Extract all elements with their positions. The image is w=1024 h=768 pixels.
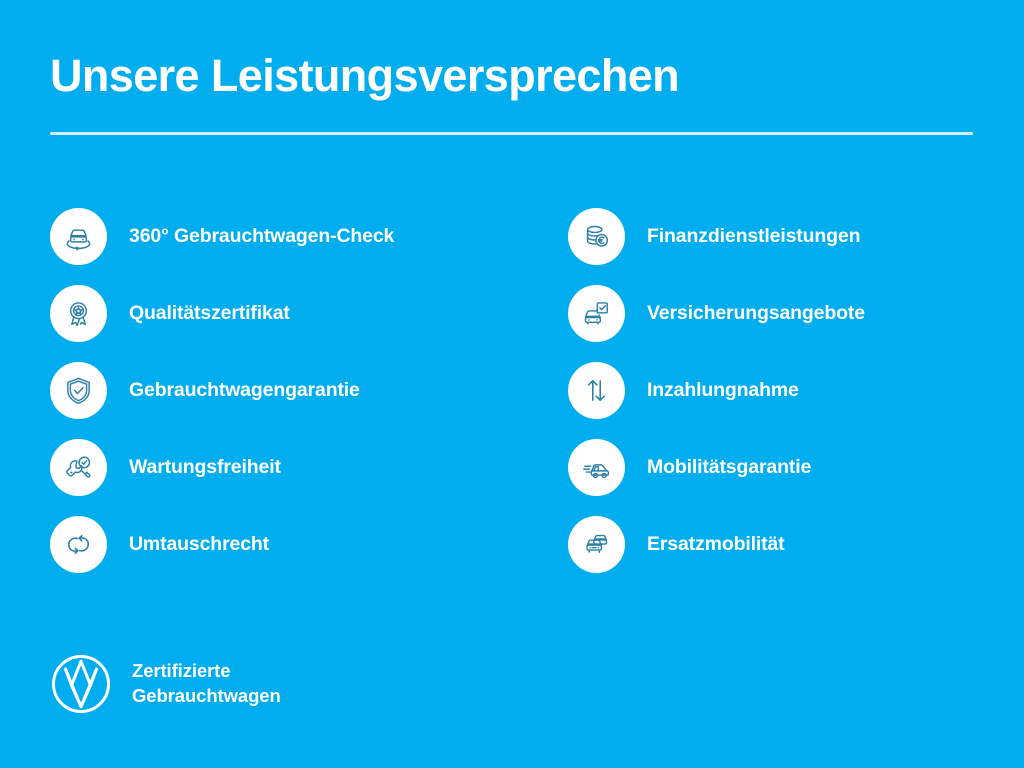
- feature-icon-badge: [568, 439, 625, 496]
- feature-item[interactable]: Qualitätszertifikat: [50, 275, 510, 352]
- feature-item[interactable]: Finanzdienstleistungen: [568, 198, 1024, 275]
- wrench-check-icon: [62, 451, 95, 484]
- shield-check-icon: [62, 374, 95, 407]
- feature-label: Mobilitätsgarantie: [647, 456, 811, 478]
- feature-item[interactable]: Ersatzmobilität: [568, 506, 1024, 583]
- title-divider: [50, 132, 973, 135]
- feature-label: Qualitätszertifikat: [129, 302, 290, 324]
- feature-icon-badge: [568, 285, 625, 342]
- features-column-left: 360° Gebrauchtwagen-Check Qualitätsz: [50, 198, 510, 583]
- feature-label: Versicherungsangebote: [647, 302, 865, 324]
- feature-icon-badge: [50, 516, 107, 573]
- feature-item[interactable]: 360° Gebrauchtwagen-Check: [50, 198, 510, 275]
- brand-lockup-line2: Gebrauchtwagen: [132, 684, 281, 709]
- feature-label: Umtauschrecht: [129, 533, 269, 555]
- car-motion-icon: [580, 451, 613, 484]
- two-cars-icon: [580, 528, 613, 561]
- award-rosette-icon: [62, 297, 95, 330]
- feature-item[interactable]: Inzahlungnahme: [568, 352, 1024, 429]
- feature-icon-badge: [50, 439, 107, 496]
- volkswagen-logo: [50, 653, 112, 715]
- brand-lockup: Zertifizierte Gebrauchtwagen: [50, 653, 281, 715]
- feature-item[interactable]: Gebrauchtwagengarantie: [50, 352, 510, 429]
- feature-icon-badge: [50, 208, 107, 265]
- coins-euro-icon: [580, 220, 613, 253]
- feature-item[interactable]: Mobilitätsgarantie: [568, 429, 1024, 506]
- feature-icon-badge: [50, 285, 107, 342]
- up-down-arrows-icon: [580, 374, 613, 407]
- feature-label: Gebrauchtwagengarantie: [129, 379, 360, 401]
- feature-label: Ersatzmobilität: [647, 533, 785, 555]
- feature-label: Finanzdienstleistungen: [647, 225, 860, 247]
- feature-label: Inzahlungnahme: [647, 379, 799, 401]
- feature-icon-badge: [568, 208, 625, 265]
- feature-icon-badge: [50, 362, 107, 419]
- brand-lockup-line1: Zertifizierte: [132, 659, 281, 684]
- slide-root: Unsere Leistungsversprechen: [0, 0, 1024, 768]
- feature-item[interactable]: Versicherungsangebote: [568, 275, 1024, 352]
- feature-icon-badge: [568, 516, 625, 573]
- features-grid: 360° Gebrauchtwagen-Check Qualitätsz: [0, 198, 1024, 578]
- car-360-check-icon: [62, 220, 95, 253]
- brand-lockup-text: Zertifizierte Gebrauchtwagen: [132, 659, 281, 709]
- page-title: Unsere Leistungsversprechen: [50, 52, 679, 99]
- feature-item[interactable]: Umtauschrecht: [50, 506, 510, 583]
- exchange-arrows-icon: [62, 528, 95, 561]
- feature-label: Wartungsfreiheit: [129, 456, 281, 478]
- car-document-check-icon: [580, 297, 613, 330]
- features-column-right: Finanzdienstleistungen: [568, 198, 1024, 583]
- feature-label: 360° Gebrauchtwagen-Check: [129, 225, 394, 247]
- feature-icon-badge: [568, 362, 625, 419]
- feature-item[interactable]: Wartungsfreiheit: [50, 429, 510, 506]
